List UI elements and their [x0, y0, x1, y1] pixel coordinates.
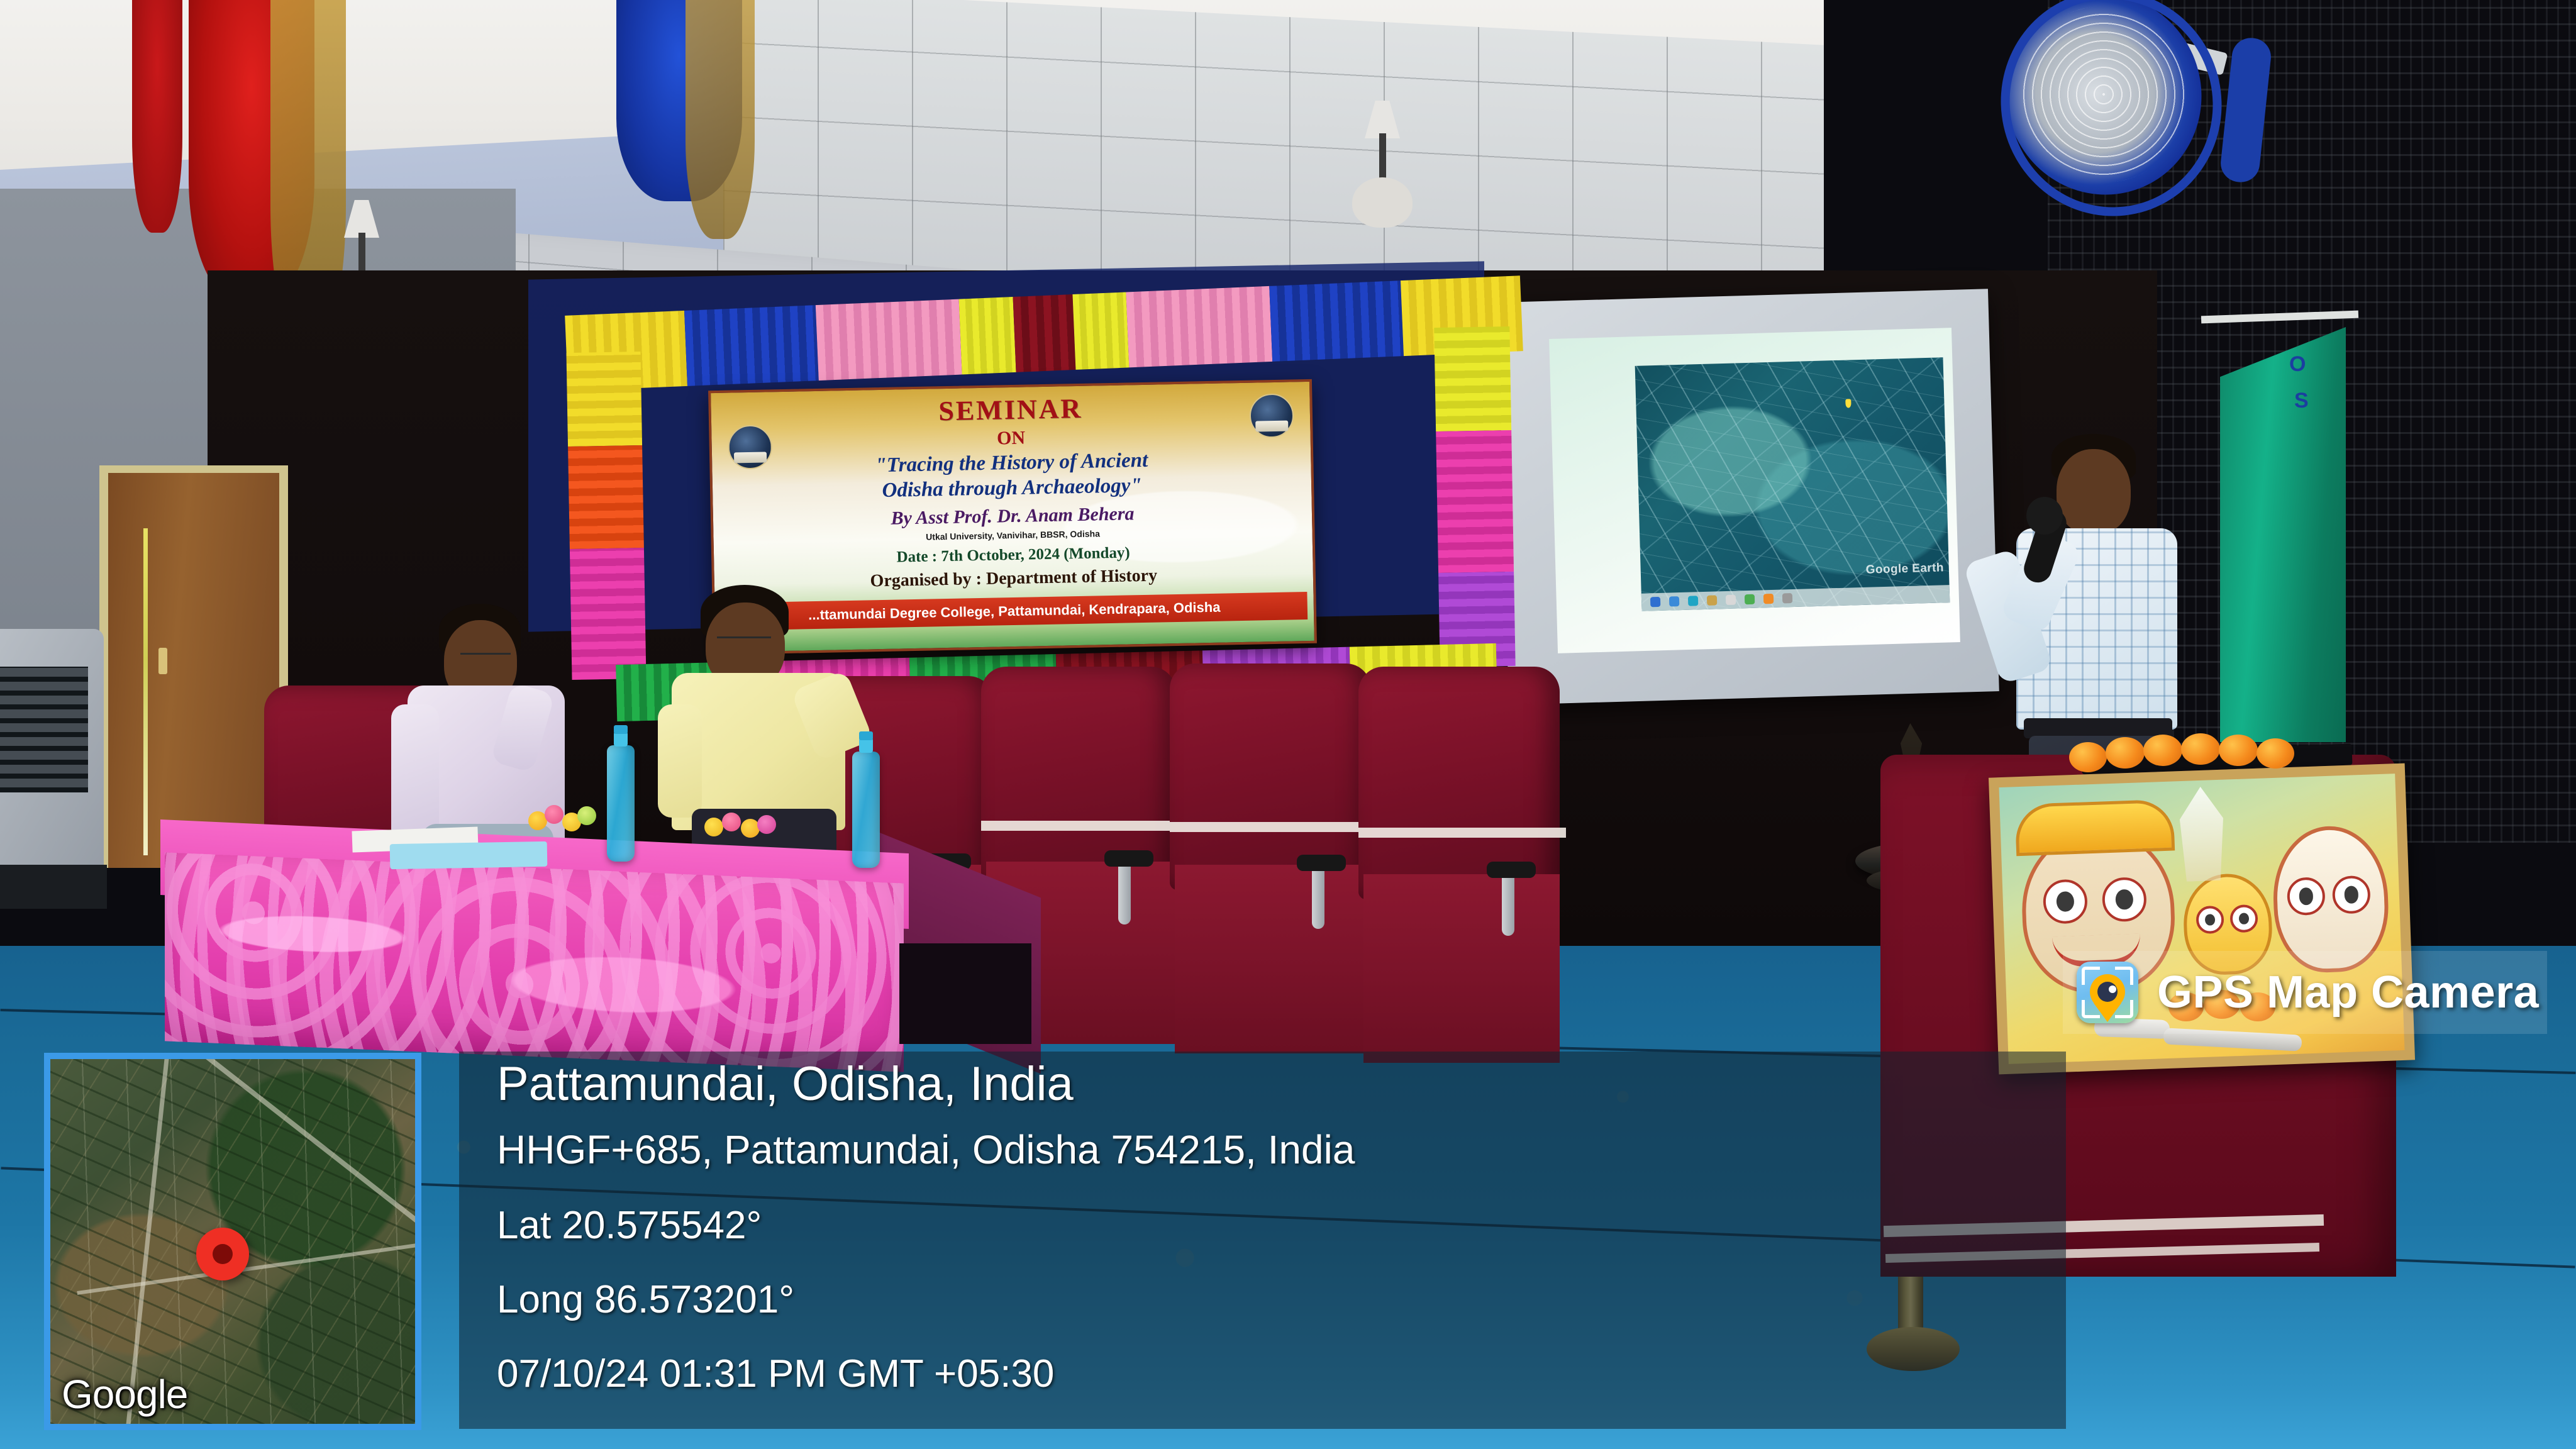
marigold-6: [2257, 738, 2294, 769]
gps-map-thumbnail: Google: [44, 1053, 421, 1430]
air-cooler-grill: [0, 667, 88, 792]
photograph-canvas: O S Google Earth: [0, 0, 2576, 1449]
microphone-head-icon: [2026, 497, 2063, 535]
table-under-shadow: [899, 943, 1031, 1044]
gps-map-camera-icon: [2077, 962, 2138, 1023]
ceiling-fan-motor-2: [1352, 177, 1413, 228]
green-curtain: [2220, 327, 2346, 742]
ceiling-fan-rod-2: [1379, 133, 1386, 182]
hanging-decoration-red-small: [132, 0, 182, 233]
marigold-4: [2181, 733, 2220, 765]
gps-longitude: Long 86.573201°: [497, 1280, 2006, 1319]
gps-place: Pattamundai, Odisha, India: [497, 1060, 2006, 1108]
blue-folder-on-table: [390, 841, 548, 869]
taskbar-icon-6: [1745, 594, 1755, 604]
wall-letter-s: S: [2294, 389, 2309, 413]
gps-map-camera-label: GPS Map Camera: [2157, 967, 2539, 1018]
gps-latitude: Lat 20.575542°: [497, 1206, 2006, 1245]
banner-date: Date : 7th October, 2024 (Monday): [714, 541, 1313, 569]
gps-address: HHGF+685, Pattamundai, Odisha 754215, In…: [497, 1130, 2006, 1170]
air-cooler-base: [0, 865, 107, 909]
temple-spire: [2170, 786, 2234, 882]
marigold-1: [2069, 742, 2107, 772]
google-earth-attribution: Google Earth: [1865, 561, 1944, 577]
door-bolt-rod: [143, 528, 148, 855]
taskbar-icon-3: [1688, 596, 1698, 606]
marigold-2: [2106, 737, 2145, 769]
flower-posy-2: [704, 813, 780, 849]
flower-posy-1: [528, 805, 604, 841]
projected-google-earth-map: Google Earth: [1635, 357, 1950, 611]
chair-5: [1170, 663, 1377, 1053]
door-handle[interactable]: [158, 648, 167, 674]
taskbar-icon-8: [1782, 593, 1792, 603]
gps-text-lines: Pattamundai, Odisha, India HHGF+685, Pat…: [497, 1060, 2006, 1394]
hanging-decoration-gold-2: [686, 0, 755, 239]
water-bottle-2: [852, 752, 880, 868]
wall-letter-o: O: [2289, 352, 2306, 377]
wooden-door[interactable]: [108, 473, 279, 868]
marigold-5: [2219, 735, 2258, 766]
marigold-3: [2143, 735, 2182, 766]
gps-map-camera-watermark: GPS Map Camera: [2063, 951, 2547, 1034]
chair-6: [1358, 667, 1566, 1063]
taskbar-icon-5: [1726, 595, 1736, 605]
taskbar-icon-4: [1707, 595, 1717, 605]
taskbar-icon-7: [1763, 594, 1774, 604]
taskbar-icon-1: [1650, 597, 1660, 607]
map-marker-icon: [1845, 399, 1851, 408]
table-cloth: [165, 852, 904, 1072]
google-attribution: Google: [62, 1371, 187, 1418]
jagannath-crown: [2014, 799, 2175, 856]
water-bottle-1: [607, 745, 635, 862]
banner-heading: SEMINAR: [711, 391, 1310, 430]
gps-datetime: 07/10/24 01:31 PM GMT +05:30: [497, 1355, 2006, 1394]
taskbar-icon-2: [1669, 596, 1679, 606]
gps-info-overlay: Google Pattamundai, Odisha, India HHGF+6…: [0, 1046, 2075, 1443]
garland-right-column: [1434, 326, 1515, 667]
